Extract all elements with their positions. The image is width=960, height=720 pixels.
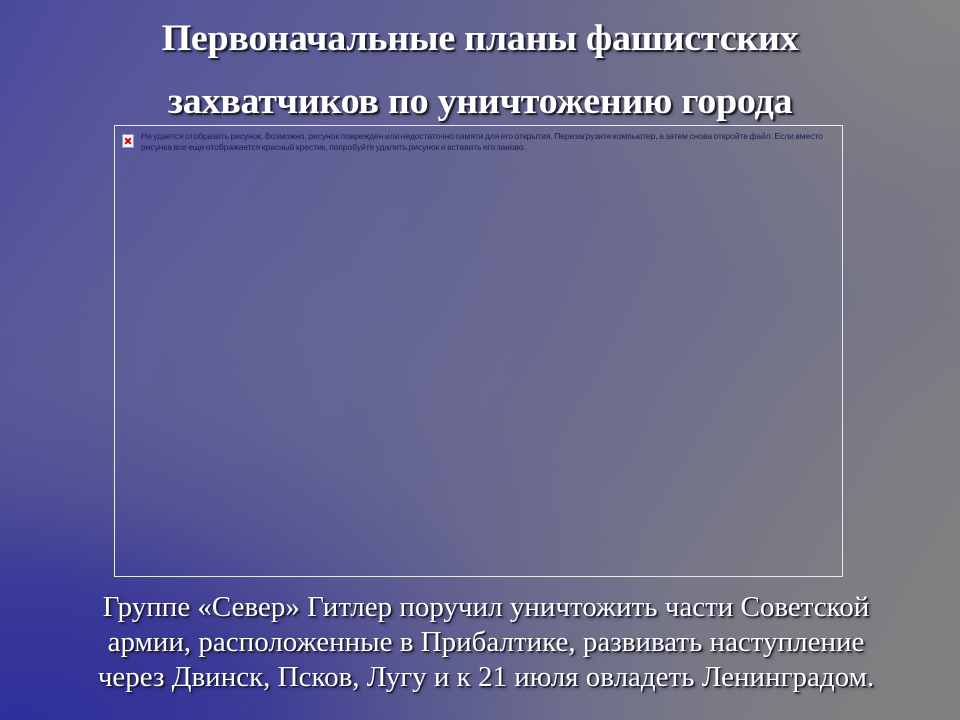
slide-body-line-2: армии, расположенные в Прибалтике, разви… xyxy=(46,625,926,660)
broken-image-error-text: Не удается отобразить рисунок. Возможно,… xyxy=(141,131,836,153)
slide-title: Первоначальные планы фашистских захватчи… xyxy=(62,12,898,128)
broken-image-placeholder[interactable]: Не удается отобразить рисунок. Возможно,… xyxy=(114,125,843,577)
slide-body-text: Группе «Север» Гитлер поручил уничтожить… xyxy=(46,590,926,695)
broken-image-message: Не удается отобразить рисунок. Возможно,… xyxy=(122,131,836,153)
broken-image-red-x-icon xyxy=(122,134,134,148)
slide-body-line-3: через Двинск, Псков, Лугу и к 21 июля ов… xyxy=(46,660,926,695)
slide-title-line-2: захватчиков по уничтожению города xyxy=(49,75,910,128)
slide-title-line-1: Первоначальные планы фашистских xyxy=(49,12,910,65)
presentation-slide: Первоначальные планы фашистских захватчи… xyxy=(0,0,960,720)
slide-body-line-1: Группе «Север» Гитлер поручил уничтожить… xyxy=(46,590,926,625)
